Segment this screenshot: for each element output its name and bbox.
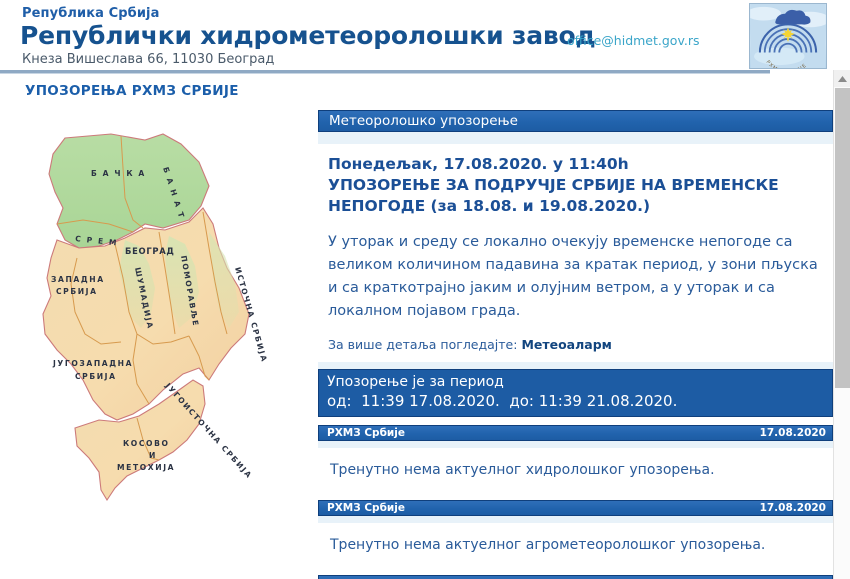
panel-gap-3 <box>318 567 833 575</box>
warning-period-block: Упозорење је за период од: 11:39 17.08.2… <box>318 369 833 417</box>
notice-text-hydro: Тренутно нема актуелног хидролошког упоз… <box>318 448 833 492</box>
svg-text:ЈУГОЗАПАДНА: ЈУГОЗАПАДНА <box>52 359 133 368</box>
warnings-section-title: УПОЗОРЕЊА РХМЗ СРБИЈЕ <box>25 83 239 99</box>
tint-strip-4 <box>318 516 833 523</box>
svg-text:Б А Ч К А: Б А Ч К А <box>91 169 146 178</box>
notice-text-agro: Тренутно нема актуелног агрометеоролошко… <box>318 523 833 567</box>
scrollbar-thumb[interactable] <box>835 88 850 388</box>
logo-emblem-icon: РХМЗ СРБИЈЕ <box>750 4 826 68</box>
notice-bar-partial <box>318 575 833 579</box>
meteo-warning-heading: Понедељак, 17.08.2020. у 11:40h УПОЗОРЕЊ… <box>318 144 833 219</box>
meteo-warning-bar-title: Метеоролошко упозорење <box>329 113 518 129</box>
header-republika: Република Србија <box>22 6 160 21</box>
svg-text:БЕОГРАД: БЕОГРАД <box>125 246 175 256</box>
header-email-link[interactable]: office@hidmet.gov.rs <box>567 33 700 48</box>
tint-strip <box>318 132 833 144</box>
svg-text:СРБИЈА: СРБИЈА <box>56 287 98 296</box>
panel-gap-2 <box>318 492 833 500</box>
panel-gap-1 <box>318 417 833 425</box>
warning-period-title: Упозорење је за период <box>327 373 822 391</box>
notice-bar-hydro: РХМЗ Србије 17.08.2020 <box>318 425 833 441</box>
meteo-warning-more-details: За више детаља погледајте: Метеоаларм <box>318 333 833 362</box>
meteo-warning-body: Понедељак, 17.08.2020. у 11:40h УПОЗОРЕЊ… <box>318 144 833 362</box>
svg-text:СРБИЈА: СРБИЈА <box>75 372 117 381</box>
page-root: Република Србија Републички хидрометеоро… <box>0 0 850 579</box>
notice-source-agro: РХМЗ Србије <box>327 502 405 514</box>
notice-source-hydro: РХМЗ Србије <box>327 427 405 439</box>
svg-text:И: И <box>149 451 157 460</box>
tint-strip-2 <box>318 362 833 369</box>
header-address: Кнеза Вишеслава 66, 11030 Београд <box>22 52 274 67</box>
meteo-warning-bar: Метеоролошко упозорење <box>318 110 833 132</box>
map-svg: Б А Ч К А Б А Н А Т С Р Е М БЕОГРАД ЗАПА… <box>13 128 308 528</box>
tint-strip-3 <box>318 441 833 448</box>
serbia-regions-map[interactable]: Б А Ч К А Б А Н А Т С Р Е М БЕОГРАД ЗАПА… <box>13 128 308 528</box>
notice-date-hydro: 17.08.2020 <box>760 427 826 439</box>
scroll-up-arrow-icon[interactable] <box>834 70 850 87</box>
site-header: Република Србија Републички хидрометеоро… <box>0 0 850 70</box>
more-details-prefix: За више детаља погледајте: <box>328 337 517 352</box>
notice-date-agro: 17.08.2020 <box>760 502 826 514</box>
page-scrollbar[interactable] <box>833 70 850 579</box>
header-divider-light <box>0 73 770 74</box>
meteo-warning-heading-line2: УПОЗОРЕЊЕ ЗА ПОДРУЧЈЕ СРБИЈЕ НА ВРЕМЕНСК… <box>328 175 821 196</box>
rhmz-logo: РХМЗ СРБИЈЕ <box>749 3 827 69</box>
svg-text:МЕТОХИЈА: МЕТОХИЈА <box>117 463 175 472</box>
meteo-warning-heading-line1: Понедељак, 17.08.2020. у 11:40h <box>328 154 821 175</box>
svg-text:КОСОВО: КОСОВО <box>123 439 170 448</box>
warning-period-dates: од: 11:39 17.08.2020. до: 11:39 21.08.20… <box>327 391 822 411</box>
meteoalarm-link[interactable]: Метеоаларм <box>521 337 611 352</box>
meteo-warning-heading-line3: НЕПОГОДЕ (за 18.08. и 19.08.2020.) <box>328 196 821 217</box>
meteo-warning-text: У уторак и среду се локално очекују врем… <box>318 219 833 333</box>
warnings-column: Метеоролошко упозорење Понедељак, 17.08.… <box>318 110 833 579</box>
notice-bar-agro: РХМЗ Србије 17.08.2020 <box>318 500 833 516</box>
svg-text:ЗАПАДНА: ЗАПАДНА <box>51 275 105 284</box>
page-title: Републички хидрометеоролошки завод <box>20 21 595 50</box>
